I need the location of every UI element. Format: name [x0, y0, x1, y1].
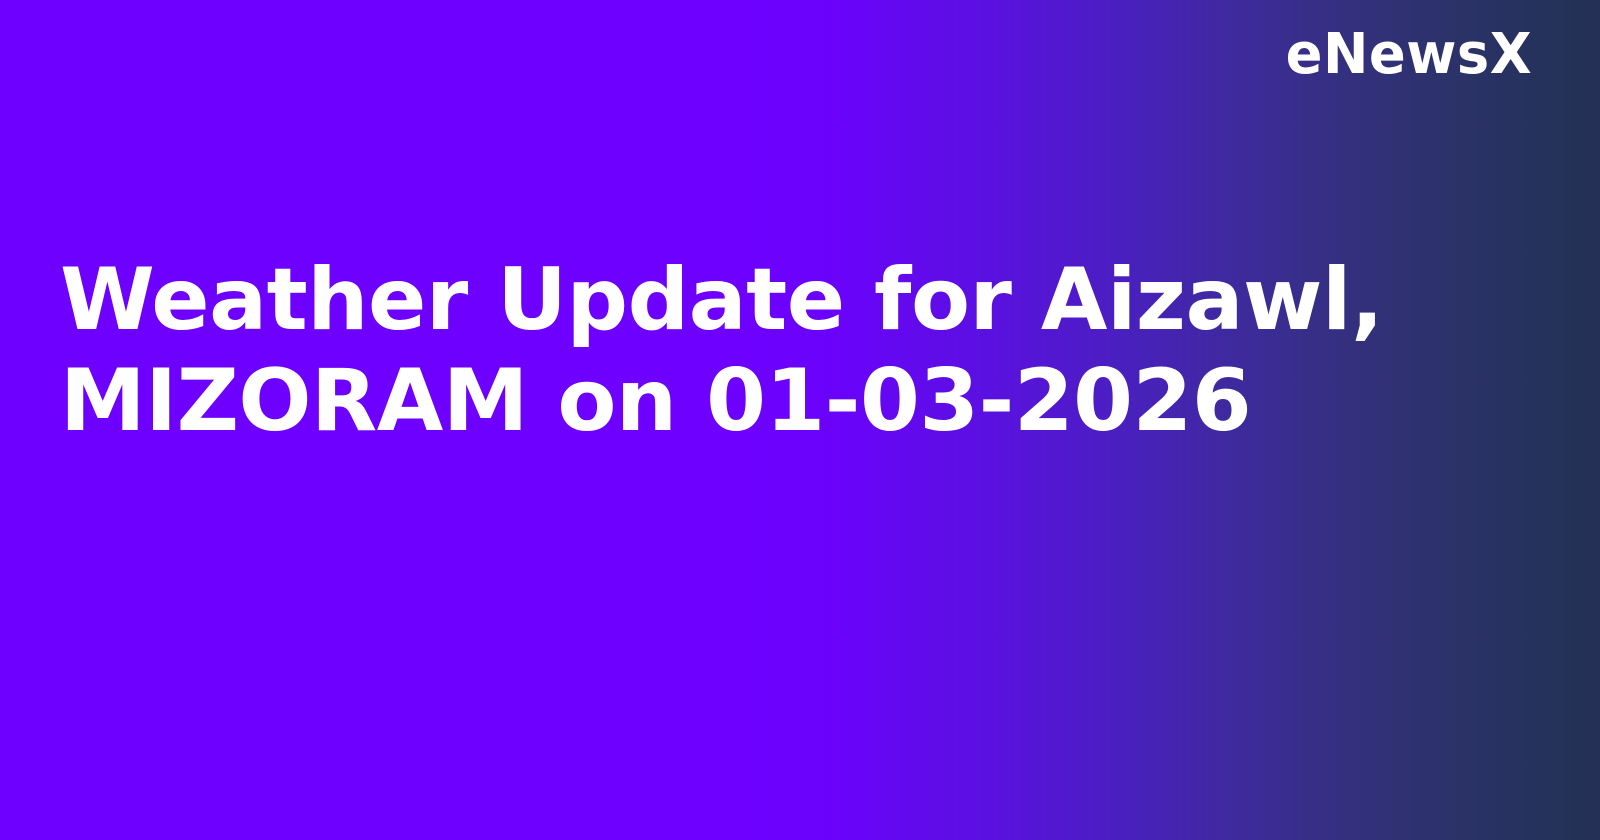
page-title: Weather Update for Aizawl, MIZORAM on 01…	[60, 250, 1460, 453]
brand-logo[interactable]: eNewsX	[1278, 26, 1532, 85]
brand-logo-text: eNewsX	[1286, 26, 1532, 85]
headline-block: Weather Update for Aizawl, MIZORAM on 01…	[60, 250, 1460, 453]
banner-empty-area	[0, 470, 1600, 840]
news-banner: eNewsX Weather Update for Aizawl, MIZORA…	[0, 0, 1600, 840]
